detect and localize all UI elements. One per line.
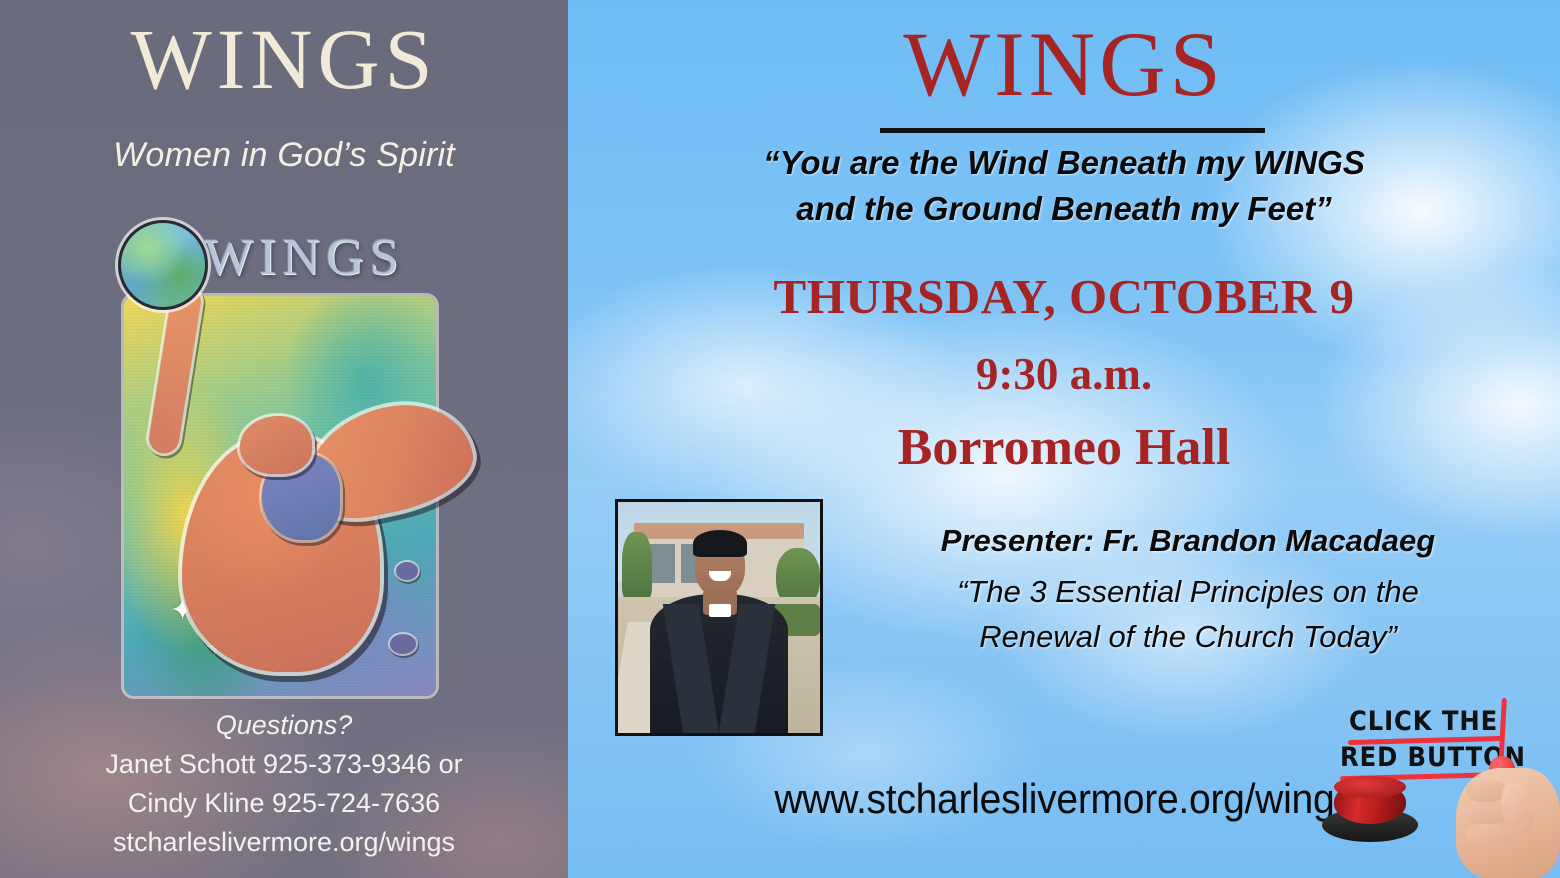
- right-panel: WINGS “You are the Wind Beneath my WINGS…: [568, 0, 1560, 878]
- angel-foot: [390, 634, 416, 654]
- title-divider-rule: [880, 128, 1265, 133]
- click-red-button-callout[interactable]: CLICK THE RED BUTTON: [1334, 694, 1560, 878]
- photo-window: [648, 544, 674, 583]
- photo-person-hair: [693, 530, 748, 558]
- photo-person-smile: [709, 571, 731, 580]
- cta-line-1: CLICK THE: [1349, 706, 1498, 737]
- presenter-photo: [615, 499, 823, 736]
- questions-label: Questions?: [0, 706, 568, 745]
- photo-shrub: [622, 532, 652, 601]
- angel-head: [240, 416, 312, 474]
- red-button-top[interactable]: [1334, 776, 1406, 798]
- angel-foot: [396, 562, 418, 580]
- tagline: “You are the Wind Beneath my WINGS and t…: [568, 140, 1560, 231]
- left-wings-title: WINGS: [0, 14, 568, 104]
- contact-line-2: Cindy Kline 925-724-7636: [0, 784, 568, 823]
- talk-title-line-2: Renewal of the Church Today”: [833, 615, 1543, 660]
- event-flyer: WINGS Women in God’s Spirit ✦ ✦ WINGS Qu…: [0, 0, 1560, 878]
- photo-clerical-collar: [709, 604, 731, 618]
- left-panel: WINGS Women in God’s Spirit ✦ ✦ WINGS Qu…: [0, 0, 568, 878]
- event-date: THURSDAY, OCTOBER 9: [568, 268, 1560, 325]
- wings-angel-globe-logo: ✦ ✦ WINGS: [104, 204, 464, 704]
- hand-finger: [1466, 824, 1508, 844]
- contact-block: Questions? Janet Schott 925-373-9346 or …: [0, 706, 568, 862]
- event-venue: Borromeo Hall: [568, 418, 1560, 477]
- right-wings-title: WINGS: [568, 16, 1560, 113]
- talk-title: “The 3 Essential Principles on the Renew…: [833, 570, 1543, 660]
- talk-title-line-1: “The 3 Essential Principles on the: [833, 570, 1543, 615]
- globe-icon: [118, 220, 208, 310]
- contact-line-1: Janet Schott 925-373-9346 or: [0, 745, 568, 784]
- presenter-name: Presenter: Fr. Brandon Macadaeg: [833, 523, 1543, 559]
- left-wings-subtitle: Women in God’s Spirit: [0, 136, 568, 175]
- contact-website: stcharleslivermore.org/wings: [0, 823, 568, 862]
- logo-script-text: WINGS: [204, 228, 454, 287]
- event-time: 9:30 a.m.: [568, 348, 1560, 400]
- tagline-line-1: “You are the Wind Beneath my WINGS: [568, 140, 1560, 186]
- tagline-line-2: and the Ground Beneath my Feet”: [568, 186, 1560, 232]
